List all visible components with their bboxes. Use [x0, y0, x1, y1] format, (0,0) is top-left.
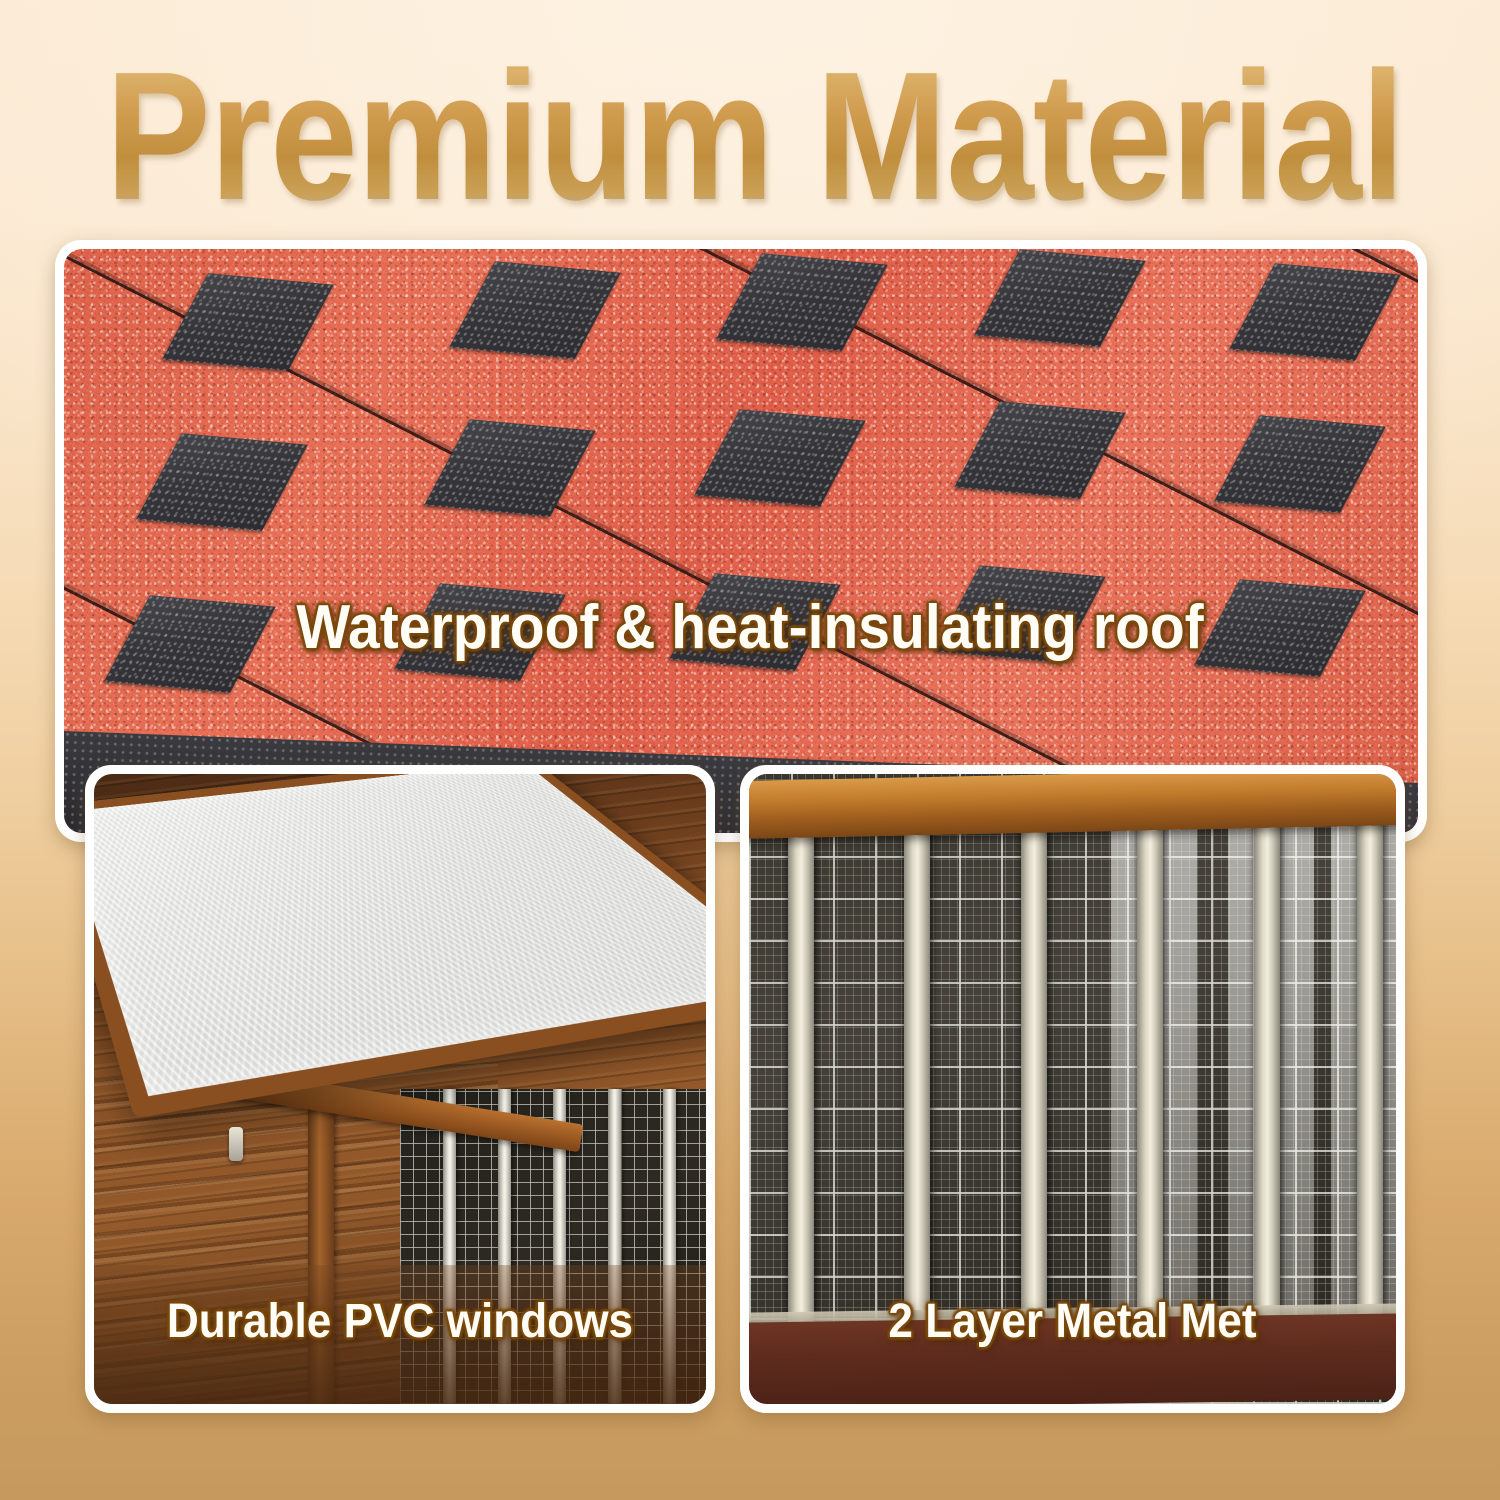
mesh-caption: 2 Layer Metal Met	[767, 1294, 1379, 1349]
pvc-caption: Durable PVC windows	[110, 1294, 690, 1349]
infographic-page: Premium Material	[0, 0, 1500, 1500]
metal-bar	[1254, 810, 1280, 1334]
title-container: Premium Material	[0, 44, 1500, 227]
metal-bar	[904, 810, 930, 1334]
roof-panel	[55, 240, 1427, 842]
metal-bar	[1357, 810, 1383, 1334]
roof-caption: Waterproof & heat-insulating roof	[60, 592, 1440, 663]
roof-photo	[64, 249, 1418, 833]
metal-bar	[788, 810, 814, 1334]
metal-bar	[1137, 810, 1163, 1334]
metal-bar	[1021, 810, 1047, 1334]
window-latch	[229, 1127, 243, 1161]
page-title: Premium Material	[106, 44, 1404, 227]
